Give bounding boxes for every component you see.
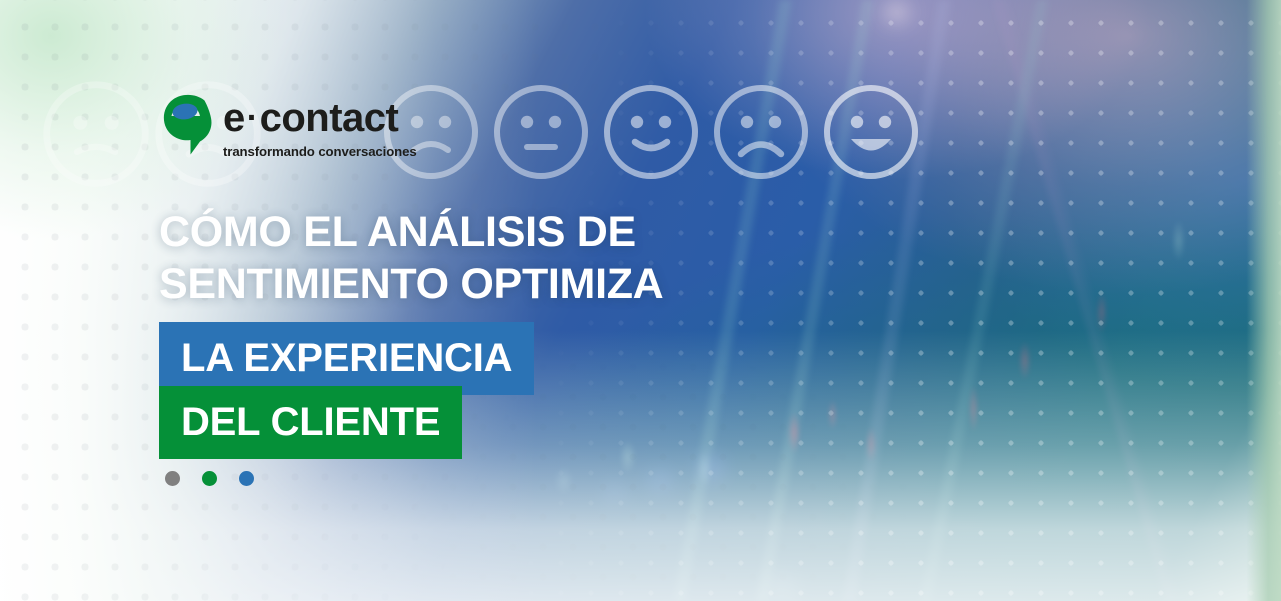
econtact-e-logo-icon: [159, 92, 215, 162]
headline-line-2: SENTIMIENTO OPTIMIZA: [159, 258, 663, 310]
brand-name-e: e: [223, 96, 245, 140]
brand-name-contact: contact: [260, 96, 399, 140]
slide-dot-1[interactable]: [165, 471, 180, 486]
page-title: CÓMO EL ANÁLISIS DE SENTIMIENTO OPTIMIZA: [159, 206, 663, 310]
headline-highlight-blue: LA EXPERIENCIA: [159, 322, 534, 395]
hero-banner: e·contact transformando conversaciones C…: [0, 0, 1281, 601]
headline-highlight-green: DEL CLIENTE: [159, 386, 462, 459]
hero-content: e·contact transformando conversaciones C…: [159, 0, 859, 601]
brand-tagline: transformando conversaciones: [223, 145, 417, 158]
carousel-dots[interactable]: [165, 471, 254, 486]
brand-logo[interactable]: e·contact transformando conversaciones: [159, 92, 417, 162]
headline-line-1: CÓMO EL ANÁLISIS DE: [159, 206, 663, 258]
slide-dot-2[interactable]: [202, 471, 217, 486]
brand-name: e·contact: [223, 98, 417, 138]
face-slight-frown-icon: [40, 78, 152, 190]
brand-separator-dot: ·: [245, 99, 260, 137]
brand-wordmark: e·contact transformando conversaciones: [223, 96, 417, 158]
slide-dot-3[interactable]: [239, 471, 254, 486]
